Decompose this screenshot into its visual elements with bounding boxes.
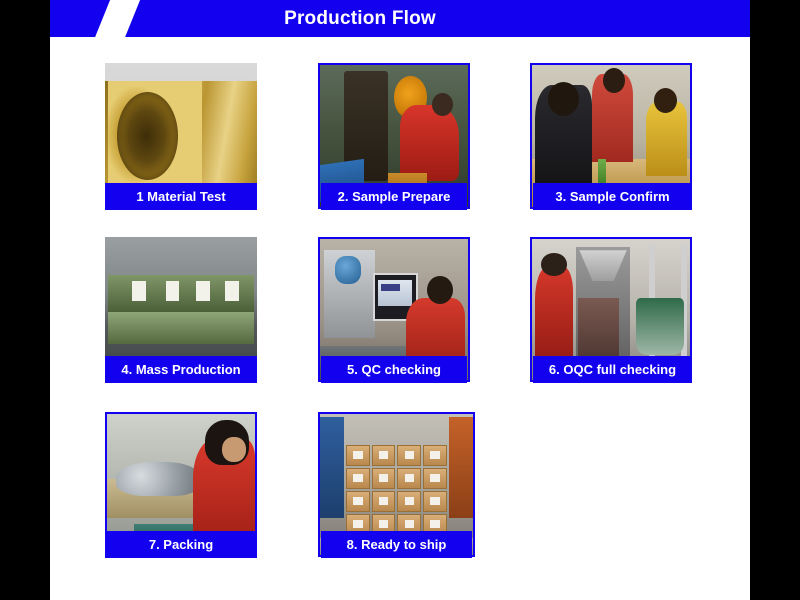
step-label-6: 6. OQC full checking	[533, 356, 692, 383]
header-banner: Production Flow	[50, 0, 750, 37]
step-label-4: 4. Mass Production	[105, 356, 257, 383]
production-flow-grid: 1 Material Test2. Sample Prepare3. Sampl…	[50, 37, 750, 600]
slide-stage: Production Flow 1 Material Test2. Sample…	[0, 0, 800, 600]
page-title: Production Flow	[50, 0, 750, 37]
step-label-7: 7. Packing	[105, 531, 257, 558]
step-label-5: 5. QC checking	[321, 356, 467, 383]
step-label-2: 2. Sample Prepare	[321, 183, 467, 210]
step-label-3: 3. Sample Confirm	[533, 183, 692, 210]
step-label-1: 1 Material Test	[105, 183, 257, 210]
step-label-8: 8. Ready to ship	[321, 531, 472, 558]
